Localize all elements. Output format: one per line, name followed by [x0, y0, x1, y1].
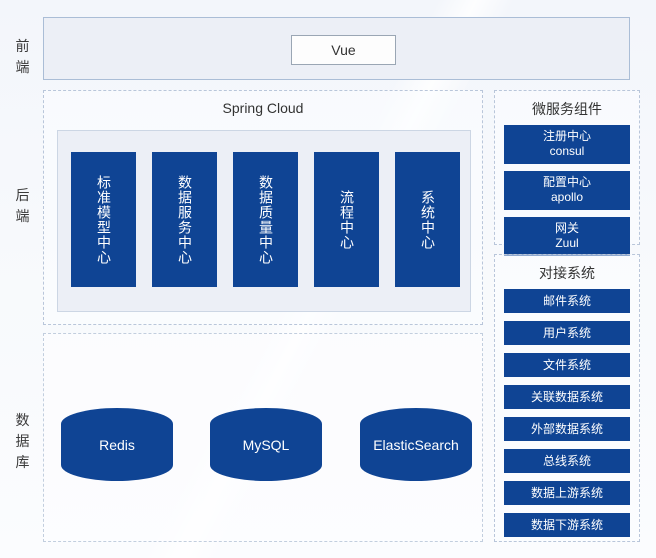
microservice-item-sublabel: consul	[504, 144, 630, 159]
microservice-item-registry[interactable]: 注册中心 consul	[504, 125, 630, 164]
integration-item-user-system[interactable]: 用户系统	[504, 321, 630, 345]
integration-item-bus-system[interactable]: 总线系统	[504, 449, 630, 473]
tier-label-frontend: 前 端	[8, 36, 38, 78]
service-node-system-center[interactable]: 系统中心	[395, 152, 460, 287]
tier-label-database: 数 据 库	[8, 410, 38, 473]
spring-cloud-services-panel: 标准模型中心 数据服务中心 数据质量中心 流程中心 系统中心	[57, 130, 471, 312]
spring-cloud-title: Spring Cloud	[44, 100, 482, 116]
database-node-elasticsearch[interactable]: ElasticSearch	[360, 408, 472, 481]
microservice-item-gateway[interactable]: 网关 Zuul	[504, 217, 630, 256]
vue-node[interactable]: Vue	[291, 35, 396, 65]
microservice-item-config[interactable]: 配置中心 apollo	[504, 171, 630, 210]
microservice-item-label: 网关	[555, 221, 579, 235]
architecture-diagram: 前 端 后 端 数 据 库 Vue Spring Cloud 标准模型中心 数据…	[0, 0, 656, 558]
service-node-label: 数据服务中心	[175, 175, 194, 265]
integration-item-file-system[interactable]: 文件系统	[504, 353, 630, 377]
integration-systems-panel: 对接系统 邮件系统 用户系统 文件系统 关联数据系统 外部数据系统 总线系统 数…	[494, 254, 640, 542]
microservice-panel-items: 注册中心 consul 配置中心 apollo 网关 Zuul	[495, 125, 639, 271]
database-tier-container: Redis MySQL ElasticSearch	[43, 333, 483, 542]
spring-cloud-container: Spring Cloud 标准模型中心 数据服务中心 数据质量中心 流程中心 系…	[43, 90, 483, 325]
integration-item-mail-system[interactable]: 邮件系统	[504, 289, 630, 313]
microservice-item-label: 注册中心	[543, 129, 591, 143]
integration-item-downstream-data-system[interactable]: 数据下游系统	[504, 513, 630, 537]
microservice-item-sublabel: apollo	[504, 190, 630, 205]
service-node-label: 系统中心	[418, 190, 437, 250]
database-node-redis[interactable]: Redis	[61, 408, 173, 481]
service-node-label: 标准模型中心	[94, 175, 113, 265]
microservice-item-sublabel: Zuul	[504, 236, 630, 251]
microservice-panel-title: 微服务组件	[495, 99, 639, 119]
tier-label-backend: 后 端	[8, 185, 38, 227]
frontend-tier-container: Vue	[43, 17, 630, 80]
service-node-data-service-center[interactable]: 数据服务中心	[152, 152, 217, 287]
service-node-standard-model-center[interactable]: 标准模型中心	[71, 152, 136, 287]
service-node-data-quality-center[interactable]: 数据质量中心	[233, 152, 298, 287]
service-node-label: 数据质量中心	[256, 175, 275, 265]
microservice-components-panel: 微服务组件 注册中心 consul 配置中心 apollo 网关 Zuul	[494, 90, 640, 245]
integration-panel-items: 邮件系统 用户系统 文件系统 关联数据系统 外部数据系统 总线系统 数据上游系统…	[495, 289, 639, 553]
service-node-label: 流程中心	[337, 190, 356, 250]
microservice-item-label: 配置中心	[543, 175, 591, 189]
integration-item-linked-data-system[interactable]: 关联数据系统	[504, 385, 630, 409]
database-node-mysql[interactable]: MySQL	[210, 408, 322, 481]
integration-item-upstream-data-system[interactable]: 数据上游系统	[504, 481, 630, 505]
integration-item-external-data-system[interactable]: 外部数据系统	[504, 417, 630, 441]
service-node-process-center[interactable]: 流程中心	[314, 152, 379, 287]
integration-panel-title: 对接系统	[495, 263, 639, 283]
